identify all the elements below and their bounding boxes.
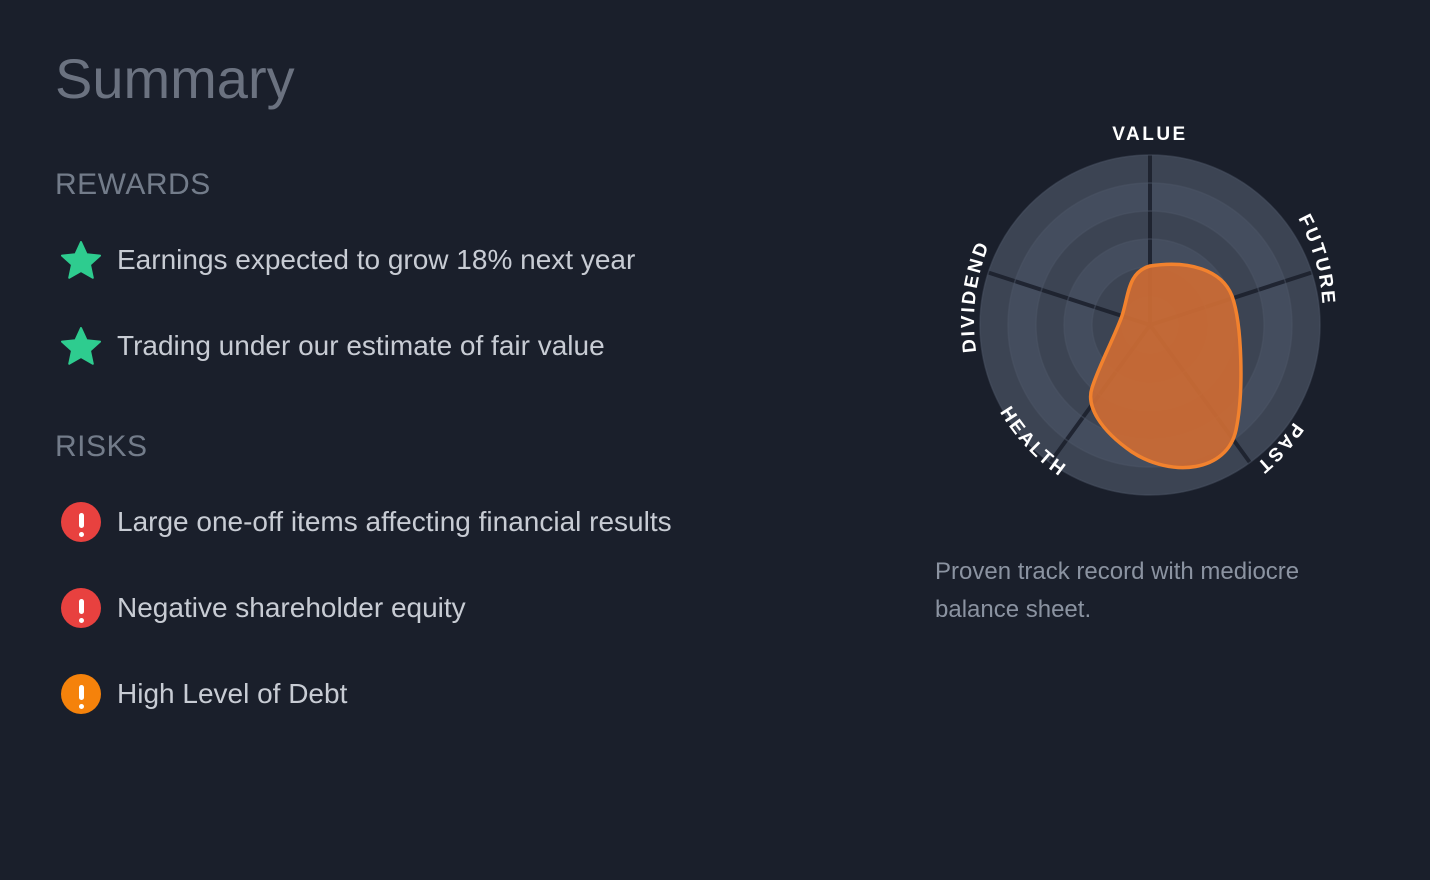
list-item-label: Trading under our estimate of fair value (117, 329, 605, 363)
list-item[interactable]: Earnings expected to grow 18% next year (55, 232, 885, 288)
star-icon (55, 324, 117, 368)
list-item[interactable]: Trading under our estimate of fair value (55, 318, 885, 374)
list-item-label: Large one-off items affecting financial … (117, 505, 672, 539)
list-item[interactable]: High Level of Debt (55, 666, 885, 722)
summary-left-column: Summary REWARDS Earnings expected to gro… (55, 0, 885, 722)
rewards-list: Earnings expected to grow 18% next year … (55, 232, 885, 374)
snowflake-axis-label-value: VALUE (1112, 124, 1187, 145)
list-item-label: Negative shareholder equity (117, 591, 466, 625)
snowflake-chart[interactable]: VALUE FUTURE PAST HEALTH (900, 100, 1400, 520)
snowflake-caption: Proven track record with mediocre balanc… (935, 553, 1335, 630)
page-title: Summary (55, 0, 885, 110)
rewards-heading: REWARDS (55, 110, 885, 202)
list-item-label: Earnings expected to grow 18% next year (117, 243, 635, 277)
summary-page: Summary REWARDS Earnings expected to gro… (0, 0, 1430, 880)
list-item-label: High Level of Debt (117, 677, 347, 711)
exclamation-circle-icon (55, 672, 117, 716)
star-icon (55, 238, 117, 282)
exclamation-circle-icon (55, 500, 117, 544)
list-item[interactable]: Large one-off items affecting financial … (55, 494, 885, 550)
risks-list: Large one-off items affecting financial … (55, 494, 885, 722)
list-item[interactable]: Negative shareholder equity (55, 580, 885, 636)
summary-right-column: VALUE FUTURE PAST HEALTH (900, 0, 1400, 880)
risks-heading: RISKS (55, 374, 885, 464)
exclamation-circle-icon (55, 586, 117, 630)
